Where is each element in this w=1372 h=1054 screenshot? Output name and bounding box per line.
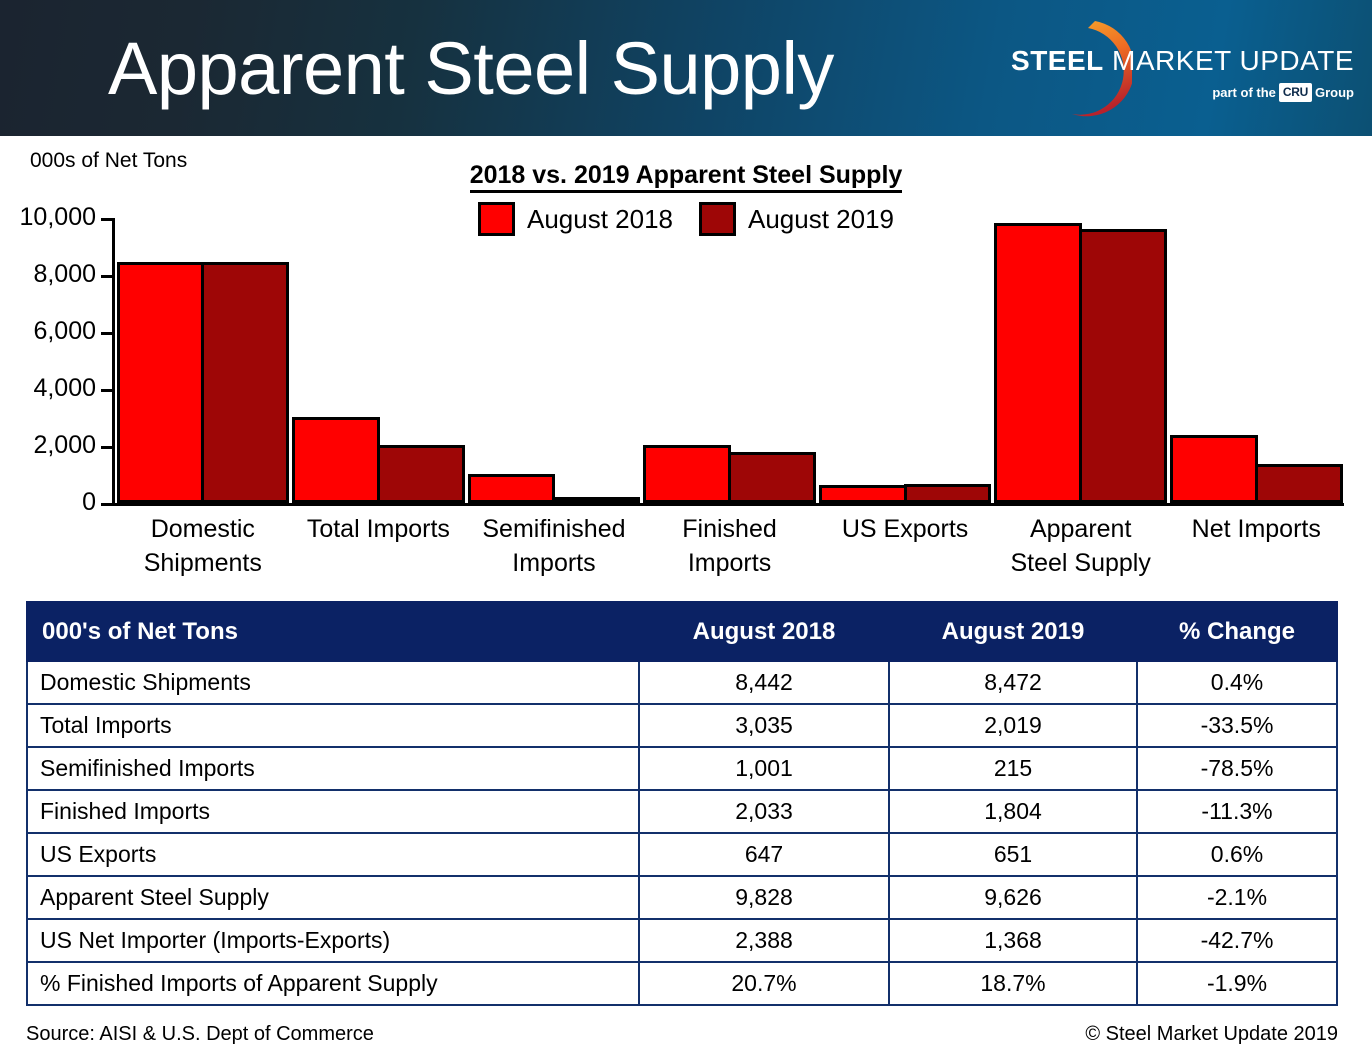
x-axis-label: US Exports (817, 512, 993, 580)
chart-plot-area (112, 218, 1344, 506)
bar (994, 223, 1082, 503)
table-cell-2019: 9,626 (889, 876, 1137, 919)
table-cell-label: Total Imports (27, 704, 639, 747)
table-cell-2018: 9,828 (639, 876, 889, 919)
bar (1255, 464, 1343, 503)
y-tick-4000 (101, 389, 112, 392)
header-banner: Apparent Steel Supply STEEL MARKET UPDAT… (0, 0, 1372, 136)
smu-logo: STEEL MARKET UPDATE part of theCRUGroup (1004, 14, 1354, 122)
table-header-august-2018: August 2018 (639, 602, 889, 661)
table-cell-change: -78.5% (1137, 747, 1337, 790)
x-axis-line (112, 503, 1344, 506)
table-cell-2018: 3,035 (639, 704, 889, 747)
table-row: % Finished Imports of Apparent Supply20.… (27, 962, 1337, 1005)
bar-group (993, 218, 1169, 503)
y-tick-0 (101, 503, 112, 506)
bar (377, 445, 465, 503)
table-cell-2018: 8,442 (639, 661, 889, 704)
table-cell-label: Apparent Steel Supply (27, 876, 639, 919)
y-tick-label-2000: 2,000 (0, 433, 96, 458)
table-cell-change: -42.7% (1137, 919, 1337, 962)
table-row: US Net Importer (Imports-Exports)2,3881,… (27, 919, 1337, 962)
table-cell-label: US Net Importer (Imports-Exports) (27, 919, 639, 962)
logo-tagline-post: Group (1315, 85, 1354, 100)
table-cell-label: Finished Imports (27, 790, 639, 833)
logo-word-market-update: MARKET UPDATE (1112, 45, 1354, 76)
table-cell-2019: 215 (889, 747, 1137, 790)
x-axis-label: ApparentSteel Supply (993, 512, 1169, 580)
table-cell-2018: 2,033 (639, 790, 889, 833)
table-header-august-2019: August 2019 (889, 602, 1137, 661)
page-title: Apparent Steel Supply (108, 26, 834, 112)
chart-title: 2018 vs. 2019 Apparent Steel Supply (0, 160, 1372, 190)
y-tick-label-8000: 8,000 (0, 262, 96, 287)
x-axis-label: FinishedImports (642, 512, 818, 580)
table-cell-2019: 1,368 (889, 919, 1137, 962)
y-tick-2000 (101, 446, 112, 449)
table-cell-change: -1.9% (1137, 962, 1337, 1005)
bar (201, 262, 289, 503)
table-cell-2018: 2,388 (639, 919, 889, 962)
bar (904, 484, 992, 503)
bar (1170, 435, 1258, 503)
footer-copyright: © Steel Market Update 2019 (1085, 1022, 1338, 1046)
logo-wordmark: STEEL MARKET UPDATE (1004, 46, 1354, 76)
bar-group (817, 218, 993, 503)
table-cell-2019: 18.7% (889, 962, 1137, 1005)
table-cell-change: -33.5% (1137, 704, 1337, 747)
table-cell-label: US Exports (27, 833, 639, 876)
bar (819, 485, 907, 503)
y-axis-labels: 10,0008,0006,0004,0002,0000 (0, 218, 96, 506)
table-cell-2019: 8,472 (889, 661, 1137, 704)
y-tick-label-0: 0 (0, 490, 96, 515)
summary-table: 000's of Net Tons August 2018 August 201… (26, 601, 1338, 1006)
table-body: Domestic Shipments8,4428,4720.4%Total Im… (27, 661, 1337, 1005)
chart-title-text: 2018 vs. 2019 Apparent Steel Supply (470, 161, 903, 193)
table-cell-label: % Finished Imports of Apparent Supply (27, 962, 639, 1005)
logo-word-steel: STEEL (1011, 45, 1104, 76)
bar (728, 452, 816, 503)
bar (1079, 229, 1167, 503)
bar-group (466, 218, 642, 503)
logo-tagline-pre: part of the (1212, 85, 1276, 100)
x-axis-label: DomesticShipments (115, 512, 291, 580)
table-cell-change: -11.3% (1137, 790, 1337, 833)
bar-group (1168, 218, 1344, 503)
x-axis-labels: DomesticShipmentsTotal ImportsSemifinish… (115, 512, 1344, 580)
table-cell-change: -2.1% (1137, 876, 1337, 919)
bar-groups (115, 218, 1344, 503)
table-row: Total Imports3,0352,019-33.5% (27, 704, 1337, 747)
x-axis-label: Total Imports (291, 512, 467, 580)
y-tick-10000 (101, 218, 112, 221)
logo-tagline: part of theCRUGroup (1004, 84, 1354, 103)
bar-group (642, 218, 818, 503)
table-header-units: 000's of Net Tons (27, 602, 639, 661)
table-cell-2019: 1,804 (889, 790, 1137, 833)
table-header-row: 000's of Net Tons August 2018 August 201… (27, 602, 1337, 661)
bar (468, 474, 556, 503)
cru-badge: CRU (1279, 83, 1312, 102)
y-tick-label-6000: 6,000 (0, 319, 96, 344)
bar-group (115, 218, 291, 503)
y-tick-6000 (101, 332, 112, 335)
table-row: Semifinished Imports1,001215-78.5% (27, 747, 1337, 790)
table-cell-2018: 647 (639, 833, 889, 876)
bar (643, 445, 731, 503)
bar (552, 497, 640, 503)
bar (292, 417, 380, 503)
y-tick-label-4000: 4,000 (0, 376, 96, 401)
x-axis-label: SemifinishedImports (466, 512, 642, 580)
table-row: US Exports6476510.6% (27, 833, 1337, 876)
table-cell-label: Semifinished Imports (27, 747, 639, 790)
y-tick-label-10000: 10,000 (0, 205, 96, 230)
x-axis-label: Net Imports (1168, 512, 1344, 580)
table-row: Finished Imports2,0331,804-11.3% (27, 790, 1337, 833)
table-row: Domestic Shipments8,4428,4720.4% (27, 661, 1337, 704)
table-cell-change: 0.4% (1137, 661, 1337, 704)
table-header-pct-change: % Change (1137, 602, 1337, 661)
table-cell-2018: 20.7% (639, 962, 889, 1005)
table-cell-label: Domestic Shipments (27, 661, 639, 704)
table-cell-2019: 2,019 (889, 704, 1137, 747)
table-cell-change: 0.6% (1137, 833, 1337, 876)
table-cell-2019: 651 (889, 833, 1137, 876)
table-cell-2018: 1,001 (639, 747, 889, 790)
footer-source: Source: AISI & U.S. Dept of Commerce (26, 1022, 374, 1046)
bar (117, 262, 205, 503)
bar-group (291, 218, 467, 503)
table-row: Apparent Steel Supply9,8289,626-2.1% (27, 876, 1337, 919)
y-tick-8000 (101, 275, 112, 278)
